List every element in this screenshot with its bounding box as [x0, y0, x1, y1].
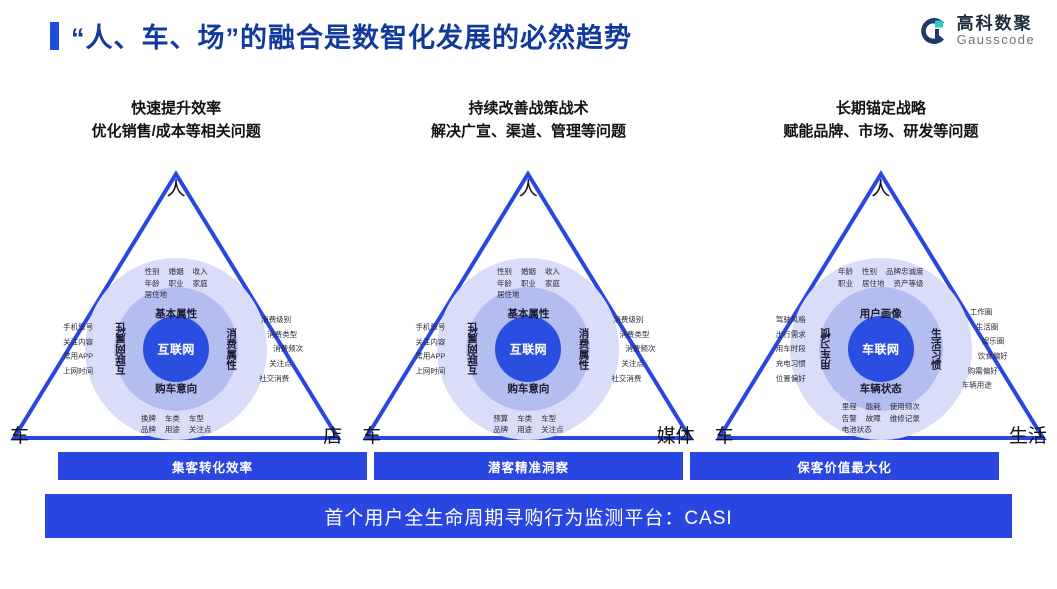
triangle-cell-1: 人 车 店 互联网 互联网 基本属性 购车意向 互联网属性 消费属性 性别婚姻收… — [0, 160, 352, 450]
label: 车类 — [517, 413, 532, 425]
outer-labels-top-3: 年龄性别品牌忠诚度 职业居住地资产等级 — [838, 266, 924, 289]
label: 手机型号 — [411, 321, 445, 333]
concentric-rings-1: 互联网 互联网 基本属性 购车意向 互联网属性 消费属性 性别婚姻收入 年龄职业… — [85, 258, 267, 440]
outer-labels-right-1: 消费级别 消费类型 消费频次 关注点 社交消费 — [253, 311, 303, 387]
label: 居住地 — [497, 289, 520, 301]
label: 关注点 — [189, 424, 212, 436]
label: 职业 — [838, 278, 853, 290]
label: 家庭 — [193, 278, 208, 290]
label: 品牌 — [493, 424, 508, 436]
label: 居住地 — [862, 278, 885, 290]
banner-row: 集客转化效率 潜客精准洞察 保客价值最大化 — [0, 452, 1057, 480]
label: 出行需求 — [756, 329, 806, 341]
label: 车型 — [541, 413, 556, 425]
label: 家庭 — [545, 278, 560, 290]
label: 消费频次 — [273, 343, 303, 355]
label: 社交消费 — [611, 372, 655, 384]
label: 品牌 — [141, 424, 156, 436]
label: 用途 — [517, 424, 532, 436]
concentric-rings-2: 互联网 互联网 基本属性 购车意向 互联网属性 消费属性 性别婚姻收入 年龄职业… — [437, 258, 619, 440]
triangle-1-apex-label: 人 — [167, 174, 186, 201]
triangle-3-apex-label: 人 — [871, 174, 890, 201]
ring-label-left-3: 用车习惯 — [818, 328, 833, 370]
label: 收入 — [193, 266, 208, 278]
label: 职业 — [521, 278, 536, 290]
slide-header: “人、车、场”的融合是数智化发展的必然趋势 高科数聚 Gausscode — [0, 0, 1057, 70]
label: 性别 — [862, 266, 877, 278]
footer-platform-bar: 首个用户全生命周期寻购行为监测平台：CASI — [45, 494, 1012, 538]
label: 消费级别 — [613, 314, 655, 326]
label: 手机型号 — [59, 321, 93, 333]
outer-labels-bottom-2: 预算车类车型 品牌用途关注点 — [493, 413, 564, 436]
concentric-rings-3: 车联网 车联网 用户画像 车辆状态 用车习惯 生活习惯 年龄性别品牌忠诚度 职业… — [790, 258, 972, 440]
label: 购需偏好 — [968, 365, 1008, 377]
label: 消费类型 — [267, 329, 303, 341]
triangle-2-left-label: 车 — [362, 421, 381, 448]
label: 消费频次 — [625, 343, 655, 355]
gausscode-logo-icon — [915, 14, 949, 48]
label: 婚姻 — [169, 266, 184, 278]
label: 用车时段 — [758, 343, 806, 355]
column-heading-2-line1: 持续改善战策战术 — [352, 98, 704, 121]
label: 资产等级 — [893, 278, 923, 290]
label: 娱乐圈 — [982, 336, 1008, 348]
label: 车辆用途 — [962, 380, 1008, 392]
label: 常用APP — [53, 351, 93, 363]
ring-core-label-3: 车联网 — [862, 341, 900, 358]
title-row: “人、车、场”的融合是数智化发展的必然趋势 — [50, 16, 632, 55]
label: 里程 — [842, 401, 857, 413]
label: 电池状态 — [842, 424, 872, 436]
outer-labels-right-2: 消费级别 消费类型 消费频次 关注点 社交消费 — [605, 311, 655, 387]
label: 职业 — [169, 278, 184, 290]
label: 关注内容 — [403, 336, 445, 348]
triangle-1-right-label: 店 — [323, 421, 342, 448]
label: 车型 — [189, 413, 204, 425]
label: 告警 — [842, 413, 857, 425]
triangle-cell-3: 人 车 生活 车联网 车联网 用户画像 车辆状态 用车习惯 生活习惯 年龄性别品… — [705, 160, 1057, 450]
title-accent-bar — [50, 22, 59, 50]
ring-label-top-2: 基本属性 — [507, 306, 549, 321]
label: 充电习惯 — [768, 358, 806, 370]
ring-label-top-3: 用户画像 — [860, 306, 902, 321]
label: 关注点 — [621, 358, 655, 370]
triangle-1-left-label: 车 — [10, 421, 29, 448]
column-heading-1: 快速提升效率 优化销售/成本等相关问题 — [0, 98, 352, 143]
ring-label-bottom-1: 购车意向 — [155, 381, 197, 396]
column-heading-3-line1: 长期锚定战略 — [705, 98, 1057, 121]
outer-labels-top-1: 性别婚姻收入 年龄职业家庭 居住地 — [145, 266, 208, 301]
outer-labels-left-1: 手机型号 关注内容 常用APP 上网时间 — [49, 318, 93, 380]
ring-label-bottom-2: 购车意向 — [507, 381, 549, 396]
label: 关注内容 — [51, 336, 93, 348]
label: 用途 — [165, 424, 180, 436]
triangle-3-left-label: 车 — [715, 421, 734, 448]
label: 收入 — [545, 266, 560, 278]
outer-labels-top-2: 性别婚姻收入 年龄职业家庭 居住地 — [497, 266, 560, 301]
brand-logo-text: 高科数聚 Gausscode — [957, 15, 1035, 46]
label: 换牌 — [141, 413, 156, 425]
label: 婚姻 — [521, 266, 536, 278]
label: 消费级别 — [261, 314, 303, 326]
label: 关注点 — [541, 424, 564, 436]
column-heading-1-line1: 快速提升效率 — [0, 98, 352, 121]
label: 年龄 — [497, 278, 512, 290]
triangle-3-right-label: 生活 — [1009, 421, 1047, 448]
slide-root: “人、车、场”的融合是数智化发展的必然趋势 高科数聚 Gausscode 快速提… — [0, 0, 1057, 589]
label: 能耗 — [866, 401, 881, 413]
outer-labels-left-3: 驾驶风格 出行需求 用车时段 充电习惯 位置偏好 — [754, 311, 806, 387]
brand-name-en: Gausscode — [957, 33, 1035, 47]
label: 上网时间 — [415, 365, 445, 377]
column-headings: 快速提升效率 优化销售/成本等相关问题 持续改善战策战术 解决广宣、渠道、管理等… — [0, 98, 1057, 143]
label: 上网时间 — [63, 365, 93, 377]
label: 预算 — [493, 413, 508, 425]
label: 车类 — [165, 413, 180, 425]
ring-label-right-3: 生活习惯 — [929, 328, 944, 370]
label: 性别 — [497, 266, 512, 278]
ring-label-right-2: 消费属性 — [576, 328, 591, 370]
page-title: “人、车、场”的融合是数智化发展的必然趋势 — [71, 16, 632, 55]
brand-name-cn: 高科数聚 — [957, 15, 1035, 33]
label: 常用APP — [405, 351, 445, 363]
banner-1: 集客转化效率 — [58, 452, 367, 480]
label: 位置偏好 — [776, 372, 806, 384]
banner-3: 保客价值最大化 — [690, 452, 999, 480]
ring-label-bottom-3: 车辆状态 — [860, 381, 902, 396]
ring-label-left-2: 互联网属性 — [465, 323, 480, 376]
label: 年龄 — [838, 266, 853, 278]
triangle-diagram-row: 人 车 店 互联网 互联网 基本属性 购车意向 互联网属性 消费属性 性别婚姻收… — [0, 160, 1057, 450]
label: 维修记录 — [890, 413, 920, 425]
label: 消费类型 — [619, 329, 655, 341]
label: 关注点 — [269, 358, 303, 370]
brand-logo: 高科数聚 Gausscode — [915, 14, 1035, 48]
outer-labels-left-2: 手机型号 关注内容 常用APP 上网时间 — [401, 318, 445, 380]
triangle-2-apex-label: 人 — [519, 174, 538, 201]
label: 品牌忠诚度 — [886, 266, 924, 278]
column-heading-3-line2: 赋能品牌、市场、研发等问题 — [705, 121, 1057, 144]
ring-core-label-2: 互联网 — [510, 341, 548, 358]
ring-label-top-1: 基本属性 — [155, 306, 197, 321]
label: 工作圈 — [970, 307, 1008, 319]
column-heading-2: 持续改善战策战术 解决广宣、渠道、管理等问题 — [352, 98, 704, 143]
column-heading-3: 长期锚定战略 赋能品牌、市场、研发等问题 — [705, 98, 1057, 143]
outer-labels-right-3: 工作圈 生活圈 娱乐圈 饮食偏好 购需偏好 车辆用途 — [962, 304, 1008, 395]
label: 使用频次 — [890, 401, 920, 413]
triangle-cell-2: 人 车 媒体 互联网 互联网 基本属性 购车意向 互联网属性 消费属性 性别婚姻… — [352, 160, 704, 450]
triangle-2-right-label: 媒体 — [657, 421, 695, 448]
ring-label-left-1: 互联网属性 — [113, 323, 128, 376]
column-heading-1-line2: 优化销售/成本等相关问题 — [0, 121, 352, 144]
outer-labels-bottom-1: 换牌车类车型 品牌用途关注点 — [141, 413, 212, 436]
label: 性别 — [145, 266, 160, 278]
ring-label-right-1: 消费属性 — [224, 328, 239, 370]
label: 驾驶风格 — [764, 314, 806, 326]
ring-core-label-1: 互联网 — [157, 341, 195, 358]
label: 饮食偏好 — [978, 351, 1008, 363]
label: 社交消费 — [259, 372, 303, 384]
label: 生活圈 — [976, 321, 1008, 333]
label: 故障 — [866, 413, 881, 425]
label: 年龄 — [145, 278, 160, 290]
column-heading-2-line2: 解决广宣、渠道、管理等问题 — [352, 121, 704, 144]
banner-2: 潜客精准洞察 — [374, 452, 683, 480]
label: 居住地 — [145, 289, 168, 301]
outer-labels-bottom-3: 里程能耗使用频次 告警故障维修记录 电池状态 — [842, 401, 920, 436]
